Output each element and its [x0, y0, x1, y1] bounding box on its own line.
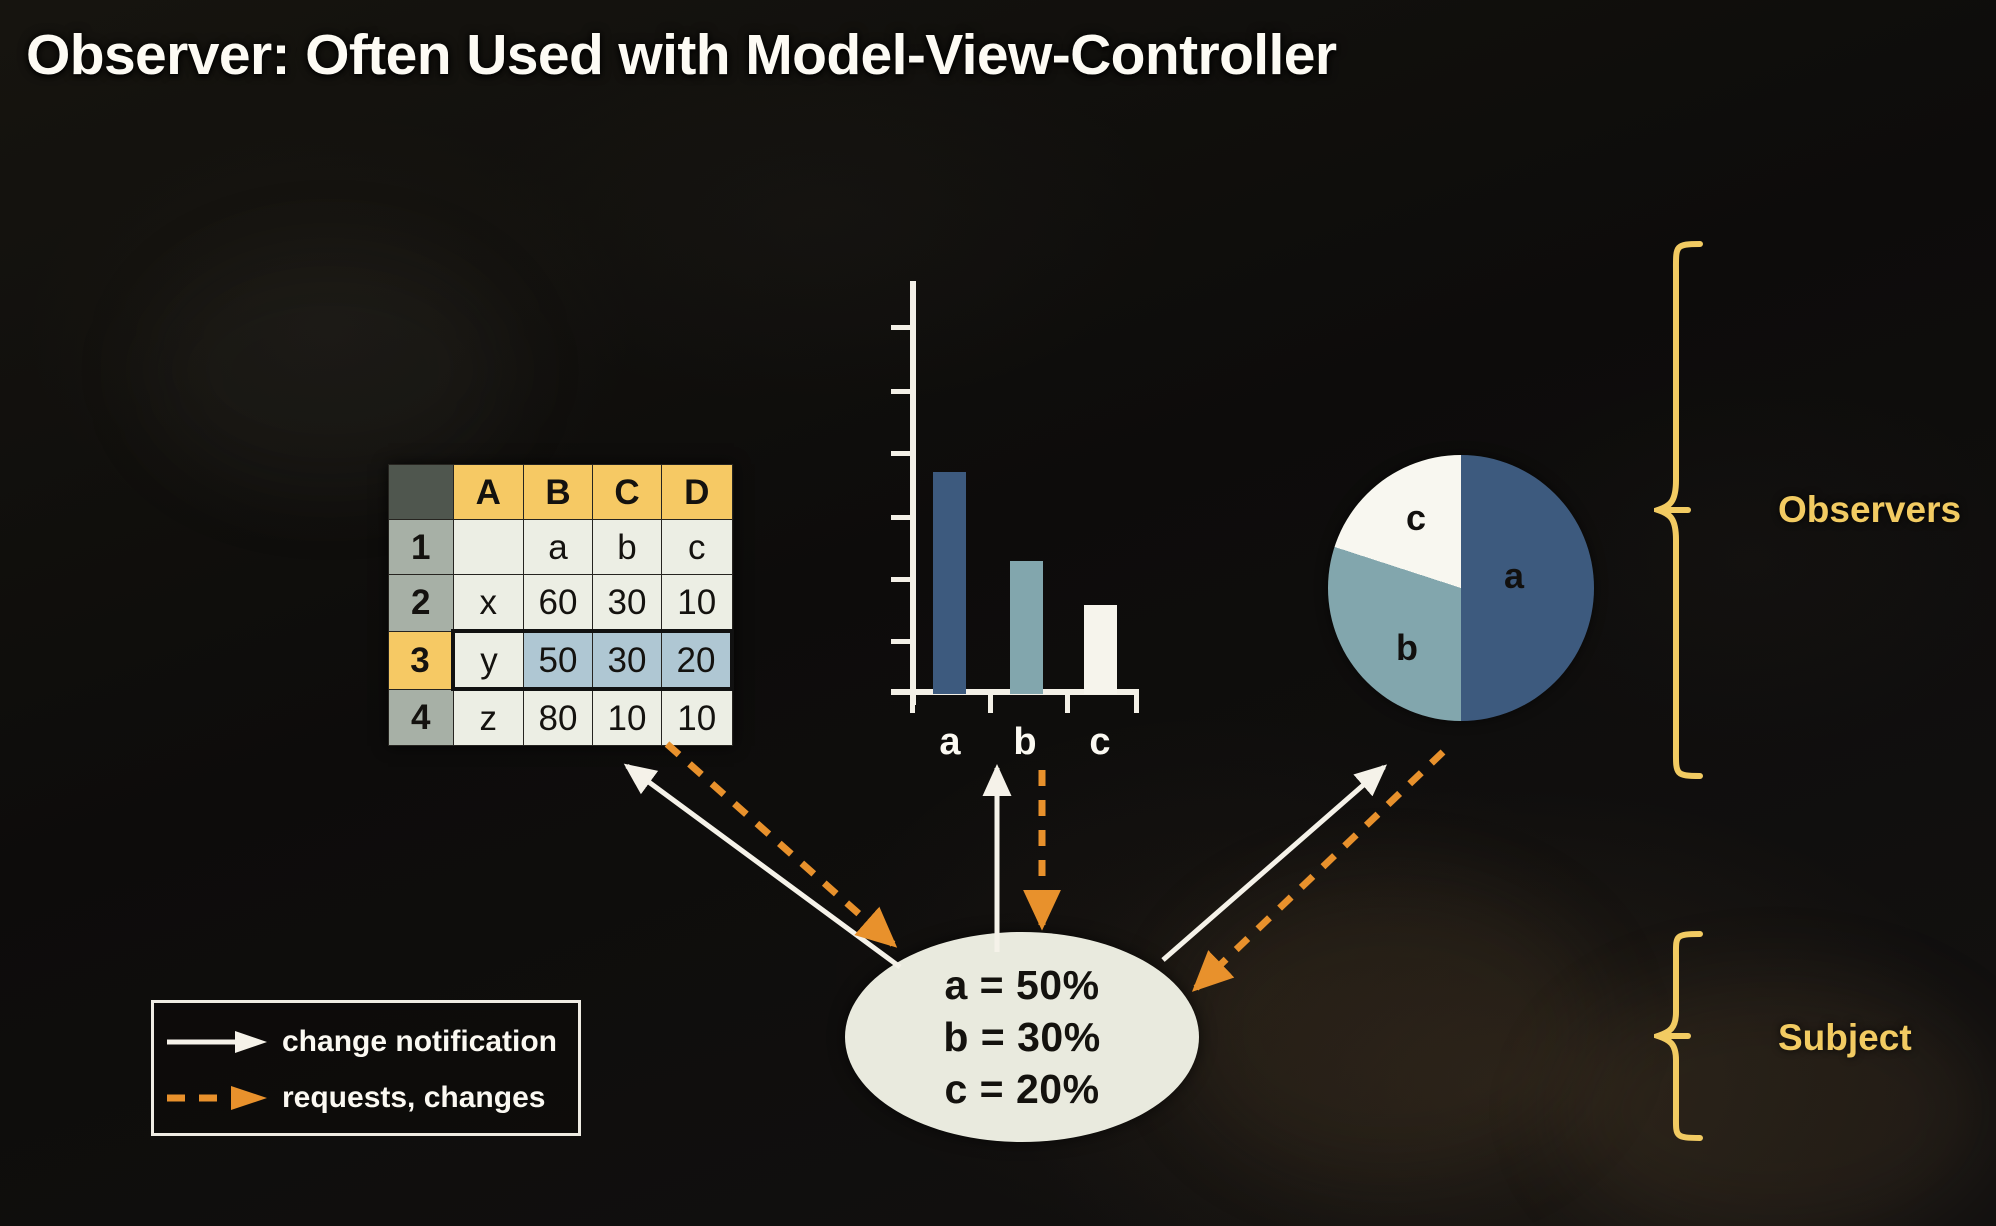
- subject-label: Subject: [1778, 1017, 1912, 1059]
- slide-canvas: Observer: Often Used with Model-View-Con…: [0, 0, 1996, 1226]
- table-corner-cell: [389, 465, 454, 520]
- cell-c4[interactable]: 10: [593, 689, 662, 746]
- y-axis-tick: [891, 325, 911, 330]
- column-header-d[interactable]: D: [662, 465, 733, 520]
- table-row: 2 x 60 30 10: [389, 575, 733, 632]
- subject-line-a: a = 50%: [944, 960, 1099, 1010]
- row-header-1[interactable]: 1: [389, 520, 454, 575]
- x-axis-tick: [988, 689, 993, 713]
- pie-slice-label-b: b: [1396, 627, 1418, 669]
- column-header-a[interactable]: A: [453, 465, 524, 520]
- cell-b1[interactable]: a: [524, 520, 593, 575]
- cell-d3[interactable]: 20: [662, 631, 733, 689]
- cell-d2[interactable]: 10: [662, 575, 733, 632]
- bar-chart-view[interactable]: a b c: [855, 265, 1155, 730]
- bar-a[interactable]: [933, 472, 966, 694]
- cell-d1[interactable]: c: [662, 520, 733, 575]
- cell-b3[interactable]: 50: [524, 631, 593, 689]
- cell-c3[interactable]: 30: [593, 631, 662, 689]
- legend-item-requests-changes: requests, changes: [154, 1069, 578, 1127]
- row-header-4[interactable]: 4: [389, 689, 454, 746]
- spreadsheet-view[interactable]: A B C D 1 a b c 2 x 60 30 10 3 y: [388, 464, 734, 746]
- table-row: 4 z 80 10 10: [389, 689, 733, 746]
- legend-item-change-notification: change notification: [154, 1013, 578, 1071]
- x-axis-tick: [910, 689, 915, 713]
- pie-circle[interactable]: [1328, 455, 1594, 721]
- cell-c2[interactable]: 30: [593, 575, 662, 632]
- pie-slice-label-c: c: [1406, 497, 1426, 539]
- row-header-2[interactable]: 2: [389, 575, 454, 632]
- subject-model[interactable]: a = 50% b = 30% c = 20%: [845, 932, 1199, 1142]
- bar-b[interactable]: [1010, 561, 1043, 694]
- y-axis-tick: [891, 515, 911, 520]
- page-title: Observer: Often Used with Model-View-Con…: [26, 22, 1336, 88]
- cell-a2[interactable]: x: [453, 575, 524, 632]
- cell-b4[interactable]: 80: [524, 689, 593, 746]
- y-axis-tick: [891, 389, 911, 394]
- legend-label-change-notification: change notification: [282, 1025, 557, 1059]
- subject-line-b: b = 30%: [943, 1012, 1100, 1062]
- observers-brace: [1654, 240, 1714, 780]
- solid-arrow-icon: [154, 1027, 282, 1057]
- pie-chart-view[interactable]: a b c: [1328, 455, 1594, 721]
- y-axis-tick: [891, 689, 911, 694]
- subject-brace: [1654, 930, 1714, 1142]
- legend: change notification requests, changes: [151, 1000, 581, 1136]
- x-axis-tick: [1134, 689, 1139, 713]
- cell-b2[interactable]: 60: [524, 575, 593, 632]
- cell-d4[interactable]: 10: [662, 689, 733, 746]
- cell-a4[interactable]: z: [453, 689, 524, 746]
- bar-c[interactable]: [1084, 605, 1117, 694]
- y-axis-tick: [891, 639, 911, 644]
- table-row-selected: 3 y 50 30 20: [389, 631, 733, 689]
- legend-label-requests-changes: requests, changes: [282, 1081, 545, 1115]
- row-header-3[interactable]: 3: [389, 631, 454, 689]
- x-axis-tick: [1065, 689, 1070, 713]
- table-header-row: A B C D: [389, 465, 733, 520]
- table-row: 1 a b c: [389, 520, 733, 575]
- pie-slice-label-a: a: [1504, 555, 1524, 597]
- cell-c1[interactable]: b: [593, 520, 662, 575]
- bar-label-c: c: [1080, 721, 1120, 764]
- subject-line-c: c = 20%: [944, 1064, 1099, 1114]
- dashed-arrow-icon: [154, 1083, 282, 1113]
- y-axis-tick: [891, 577, 911, 582]
- observers-label: Observers: [1778, 489, 1961, 531]
- bar-label-b: b: [1005, 721, 1045, 764]
- cell-a3[interactable]: y: [453, 631, 524, 689]
- y-axis-tick: [891, 451, 911, 456]
- bar-label-a: a: [930, 721, 970, 764]
- cell-a1[interactable]: [453, 520, 524, 575]
- column-header-c[interactable]: C: [593, 465, 662, 520]
- column-header-b[interactable]: B: [524, 465, 593, 520]
